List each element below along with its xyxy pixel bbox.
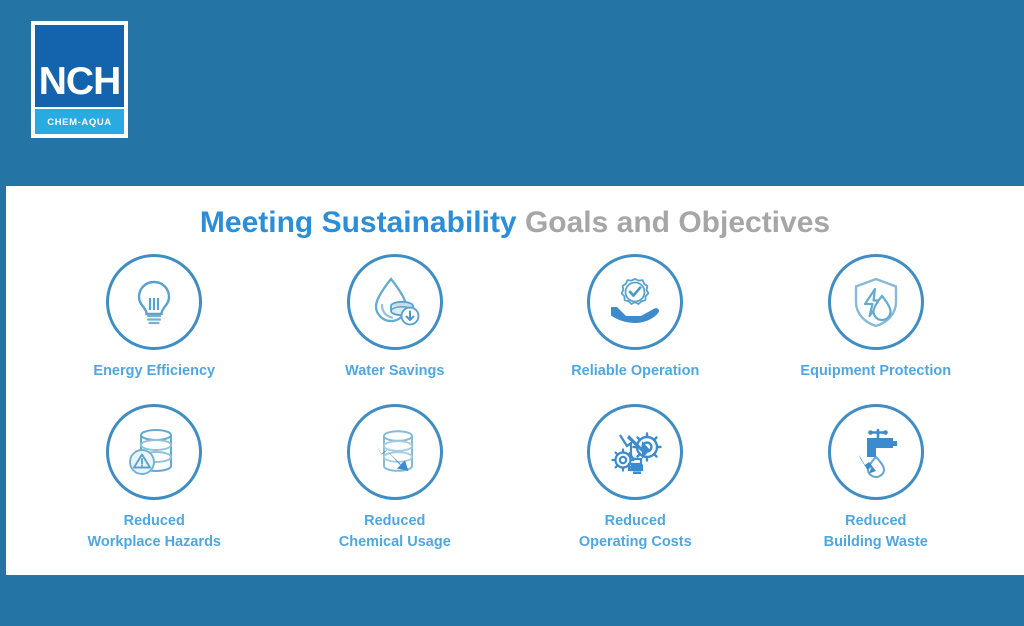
hand-check-icon xyxy=(587,254,683,350)
benefit-label: Reduced Building Waste xyxy=(824,511,928,555)
gears-down-arrow-icon xyxy=(587,404,683,500)
benefit-item-energy-efficiency: Energy Efficiency xyxy=(34,254,275,404)
benefit-label: Water Savings xyxy=(345,361,444,383)
benefit-label: Reliable Operation xyxy=(571,361,699,383)
water-drop-coins-icon xyxy=(347,254,443,350)
content-panel: Meeting Sustainability Goals and Objecti… xyxy=(6,186,1024,575)
benefit-label-line1: Water Savings xyxy=(345,363,444,379)
benefits-grid: Energy Efficiency W xyxy=(6,254,1024,554)
faucet-drop-icon xyxy=(828,404,924,500)
logo-inner-box: NCH CHEM-AQUA xyxy=(33,23,126,136)
nch-chemaqua-logo: NCH CHEM-AQUA xyxy=(31,21,128,138)
logo-subtitle-bar: CHEM-AQUA xyxy=(35,107,124,134)
benefit-label: Energy Efficiency xyxy=(93,361,215,383)
shield-bolt-drop-icon xyxy=(828,254,924,350)
drum-warning-icon xyxy=(106,404,202,500)
benefit-label-line2: Building Waste xyxy=(824,532,928,554)
benefit-label-line1: Equipment Protection xyxy=(800,363,951,379)
benefit-label-line2: Chemical Usage xyxy=(339,532,451,554)
benefit-label-line1: Reduced xyxy=(605,513,666,529)
benefit-item-water-savings: Water Savings xyxy=(275,254,516,404)
benefit-label: Equipment Protection xyxy=(800,361,951,383)
benefit-item-reduced-building-waste: Reduced Building Waste xyxy=(756,404,997,554)
benefit-label-line1: Reliable Operation xyxy=(571,363,699,379)
benefit-label-line1: Reduced xyxy=(845,513,906,529)
page-title-rest: Goals and Objectives xyxy=(517,206,830,239)
benefit-item-reduced-operating-costs: Reduced Operating Costs xyxy=(515,404,756,554)
benefit-label: Reduced Operating Costs xyxy=(579,511,692,555)
page-title-highlight: Meeting Sustainability xyxy=(200,206,517,239)
benefit-item-equipment-protection: Equipment Protection xyxy=(756,254,997,404)
benefit-label: Reduced Workplace Hazards xyxy=(87,511,221,555)
logo-subtitle: CHEM-AQUA xyxy=(47,117,112,128)
benefit-item-reduced-workplace-hazards: Reduced Workplace Hazards xyxy=(34,404,275,554)
page-title: Meeting Sustainability Goals and Objecti… xyxy=(6,206,1024,240)
benefit-label: Reduced Chemical Usage xyxy=(339,511,451,555)
benefit-item-reduced-chemical-usage: Reduced Chemical Usage xyxy=(275,404,516,554)
benefit-item-reliable-operation: Reliable Operation xyxy=(515,254,756,404)
benefit-label-line2: Operating Costs xyxy=(579,532,692,554)
benefit-label-line1: Reduced xyxy=(124,513,185,529)
benefit-label-line2: Workplace Hazards xyxy=(87,532,221,554)
drum-down-arrow-icon xyxy=(347,404,443,500)
benefit-label-line1: Energy Efficiency xyxy=(93,363,215,379)
slide-canvas: NCH CHEM-AQUA Meeting Sustainability Goa… xyxy=(0,0,1024,626)
lightbulb-icon xyxy=(106,254,202,350)
benefit-label-line1: Reduced xyxy=(364,513,425,529)
logo-wordmark: NCH xyxy=(39,62,121,101)
